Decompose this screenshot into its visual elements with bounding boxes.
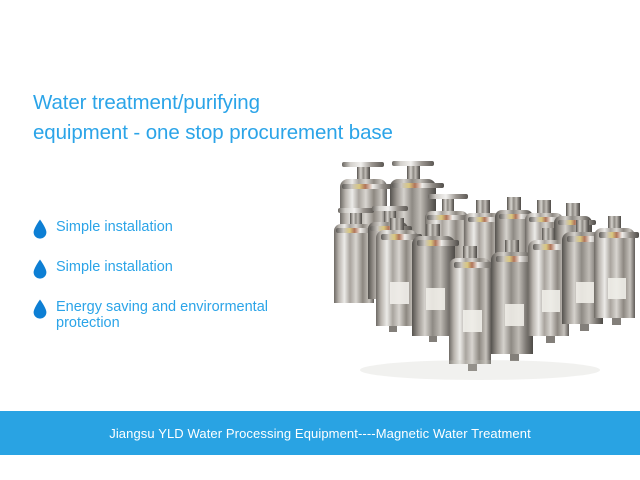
footer-banner-text: Jiangsu YLD Water Processing Equipment--… bbox=[109, 426, 531, 441]
list-item: Energy saving and envirormental protecti… bbox=[33, 298, 333, 331]
list-item-label: Energy saving and envirormental protecti… bbox=[56, 298, 316, 331]
list-item-label: Simple installation bbox=[56, 218, 173, 236]
water-drop-icon bbox=[33, 299, 47, 319]
footer-banner: Jiangsu YLD Water Processing Equipment--… bbox=[0, 411, 640, 455]
page-title: Water treatment/purifying equipment - on… bbox=[33, 88, 413, 148]
water-drop-icon bbox=[33, 259, 47, 279]
vessel-front-7 bbox=[594, 216, 639, 325]
headline-line-1: Water treatment/purifying bbox=[33, 88, 413, 118]
water-drop-icon bbox=[33, 219, 47, 239]
list-item: Simple installation bbox=[33, 218, 333, 239]
slide-canvas: Water treatment/purifying equipment - on… bbox=[0, 0, 640, 480]
product-photo bbox=[330, 158, 640, 398]
feature-bullet-list: Simple installation Simple installation … bbox=[33, 218, 333, 331]
vessel-front-3 bbox=[449, 246, 495, 371]
list-item: Simple installation bbox=[33, 258, 333, 279]
list-item-label: Simple installation bbox=[56, 258, 173, 276]
filter-housings-illustration bbox=[330, 158, 640, 398]
headline-line-2: equipment - one stop procurement base bbox=[33, 118, 413, 148]
